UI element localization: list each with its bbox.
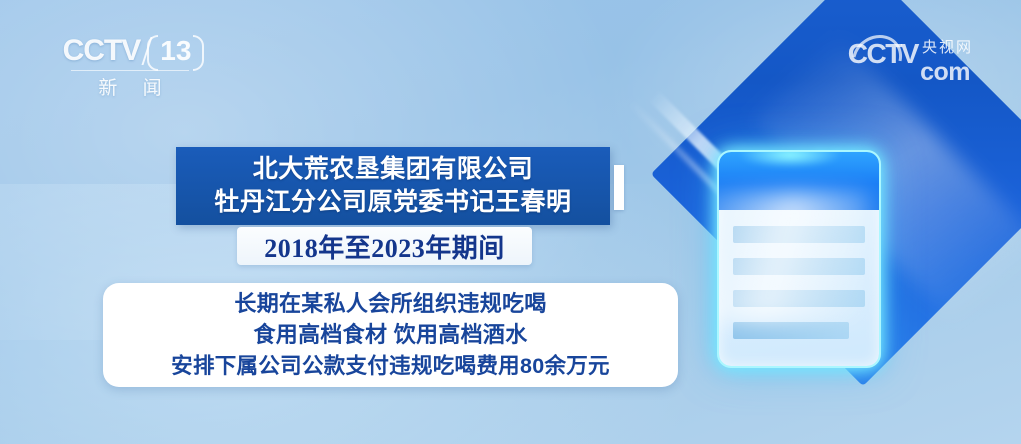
cctv13-channel-logo: CCTV 13 新 闻: [55, 36, 205, 100]
document-text-lines: [719, 210, 879, 339]
violation-line-1: 长期在某私人会所组织违规吃喝: [171, 288, 610, 320]
violation-detail-card: 长期在某私人会所组织违规吃喝 食用高档食材 饮用高档酒水 安排下属公司公款支付违…: [103, 283, 678, 387]
watermark-chinese-name: 央视网: [922, 40, 973, 55]
channel-number: 13: [154, 37, 197, 65]
subject-name-lines: 北大荒农垦集团有限公司 牡丹江分公司原党委书记王春明: [214, 153, 571, 220]
cctv-com-watermark: CCTV 央视网 com: [848, 40, 973, 68]
background-wash-top-right: [601, 0, 1021, 240]
banner-accent-tick: [614, 165, 624, 210]
subject-name-banner: 北大荒农垦集团有限公司 牡丹江分公司原党委书记王春明: [176, 147, 610, 225]
subject-org-line: 北大荒农垦集团有限公司: [214, 153, 571, 186]
date-range-pill: 2018年至2023年期间: [237, 227, 532, 265]
violation-line-2: 食用高档食材 饮用高档酒水: [171, 319, 610, 351]
date-range-text: 2018年至2023年期间: [264, 228, 505, 265]
diamond-edge-glow: [648, 90, 870, 312]
watermark-swoosh-icon: [843, 25, 912, 93]
channel-subtitle: 新 闻: [55, 73, 205, 100]
logo-divider: [71, 70, 189, 71]
document-gloss: [717, 192, 869, 322]
document-stack-icon: [815, 152, 911, 362]
cctv13-logo-row: CCTV 13: [55, 36, 205, 66]
document-icon: [717, 150, 881, 368]
violation-line-3: 安排下属公司公款支付违规吃喝费用80余万元: [171, 351, 610, 382]
violation-detail-lines: 长期在某私人会所组织违规吃喝 食用高档食材 饮用高档酒水 安排下属公司公款支付违…: [171, 288, 610, 383]
watermark-domain: com: [920, 60, 970, 85]
subject-title-line: 牡丹江分公司原党委书记王春明: [214, 186, 571, 219]
document-header-band: [719, 152, 879, 210]
document-glow-rim: [717, 150, 881, 368]
cctv-wordmark: CCTV: [63, 36, 141, 66]
broadcast-lower-third-graphic: CCTV 13 新 闻 CCTV 央视网 com 北大荒农垦集团有限公司 牡丹江…: [0, 0, 1021, 444]
